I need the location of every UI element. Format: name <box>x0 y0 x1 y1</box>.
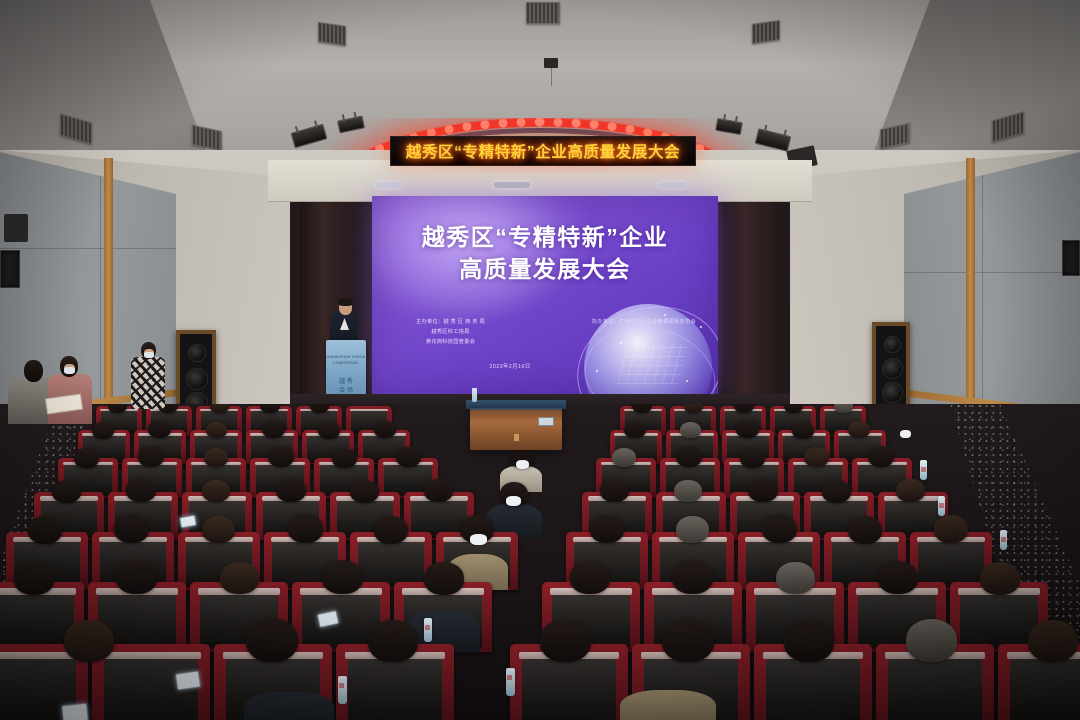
standing-attendee-body <box>131 357 165 409</box>
hanging-projector-box <box>544 58 558 68</box>
projection-screen: 越秀区“专精特新”企业 高质量发展大会 主办单位：越 秀 区 商 务 局 越秀区… <box>372 196 718 394</box>
podium-label-en: GUANGZHOU YUEXIU CONFERENCE <box>326 354 366 366</box>
front-attendee-head <box>24 360 43 382</box>
slide-title-line1: 越秀区“专精特新”企业 <box>372 222 718 254</box>
vent-grille-icon <box>752 20 780 44</box>
av-console <box>470 408 562 450</box>
podium-line-2: CONFERENCE <box>326 360 366 366</box>
podium-cn-1: 越 秀 <box>326 378 366 387</box>
slide-date: 2023年2月16日 <box>372 362 718 370</box>
side-monitor-left <box>4 214 28 242</box>
phone-screen <box>175 670 201 690</box>
water-bottle <box>472 388 477 402</box>
phone-screen <box>61 703 89 720</box>
recessed-light <box>494 182 530 188</box>
wall-speaker-right-icon <box>1062 240 1080 276</box>
vent-grille-icon <box>526 2 560 24</box>
face-mask-icon <box>144 352 154 358</box>
vent-grille-icon <box>318 22 346 46</box>
led-banner-text: 越秀区“专精特新”企业高质量发展大会 <box>406 140 680 162</box>
console-panel <box>538 417 554 426</box>
slide-title-line2: 高质量发展大会 <box>372 254 718 286</box>
slide-title: 越秀区“专精特新”企业 高质量发展大会 <box>372 222 718 285</box>
audience-seating-area <box>0 404 1080 720</box>
face-mask-icon <box>64 367 75 374</box>
stage-curtain-right <box>722 196 780 406</box>
auditorium-photo: 越秀区“专精特新”企业高质量发展大会 越秀区“专精特新”企业 高质量发展大会 主… <box>0 0 1080 720</box>
host-line-2: 越秀区科工信局 <box>416 328 485 338</box>
led-banner: 越秀区“专精特新”企业高质量发展大会 <box>390 136 696 166</box>
slide-credits: 主办单位：越 秀 区 商 务 局 越秀区科工信局 黄花岗科技园管委会 协办单位：… <box>386 318 704 348</box>
speaker-hair <box>338 298 353 306</box>
slide-co-organizer: 协办单位：广州市中小企业管理局服务协会 <box>592 318 704 348</box>
host-line-1: 主办单位：越 秀 区 商 务 局 <box>416 318 485 328</box>
slide-host-organizers: 主办单位：越 秀 区 商 务 局 越秀区科工信局 黄花岗科技园管委会 <box>386 318 485 348</box>
host-line-3: 黄花岗科技园管委会 <box>416 338 485 348</box>
wall-speaker-left-icon <box>0 250 20 288</box>
recessed-light <box>376 182 402 188</box>
recessed-light <box>660 182 686 188</box>
console-knob <box>514 434 519 441</box>
